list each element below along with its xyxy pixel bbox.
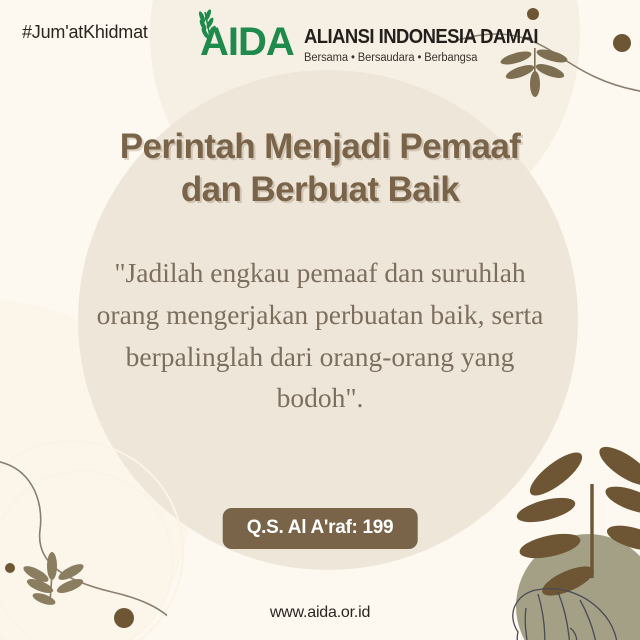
status-badge: Q.S. Al A'raf: 199 [223, 508, 418, 549]
brand-logo: AIDA ALIANSI INDONESIA DAMAI Bersama • B… [186, 10, 564, 70]
dot-icon [613, 34, 631, 52]
website-url: www.aida.or.id [0, 604, 640, 622]
logo-tagline: Bersama • Bersaudara • Berbangsa [304, 52, 556, 64]
logo-acronym: AIDA [200, 22, 294, 62]
quote-text: "Jadilah engkau pemaaf dan suruhlah oran… [96, 252, 544, 419]
dot-icon [5, 563, 15, 573]
poster-canvas: #Jum'atKhidmat AIDA ALIANSI INDONESIA DA… [0, 0, 640, 640]
hashtag-label: #Jum'atKhidmat [22, 22, 148, 43]
logo-full-name: ALIANSI INDONESIA DAMAI [304, 27, 538, 48]
logo-mark: AIDA [186, 10, 308, 70]
logo-wordmark: ALIANSI INDONESIA DAMAI Bersama • Bersau… [304, 10, 564, 64]
headline-line-2: dan Berbuat Baik [0, 169, 640, 212]
page-title: Perintah Menjadi Pemaaf dan Berbuat Baik [0, 126, 640, 211]
headline-line-1: Perintah Menjadi Pemaaf [120, 127, 521, 166]
